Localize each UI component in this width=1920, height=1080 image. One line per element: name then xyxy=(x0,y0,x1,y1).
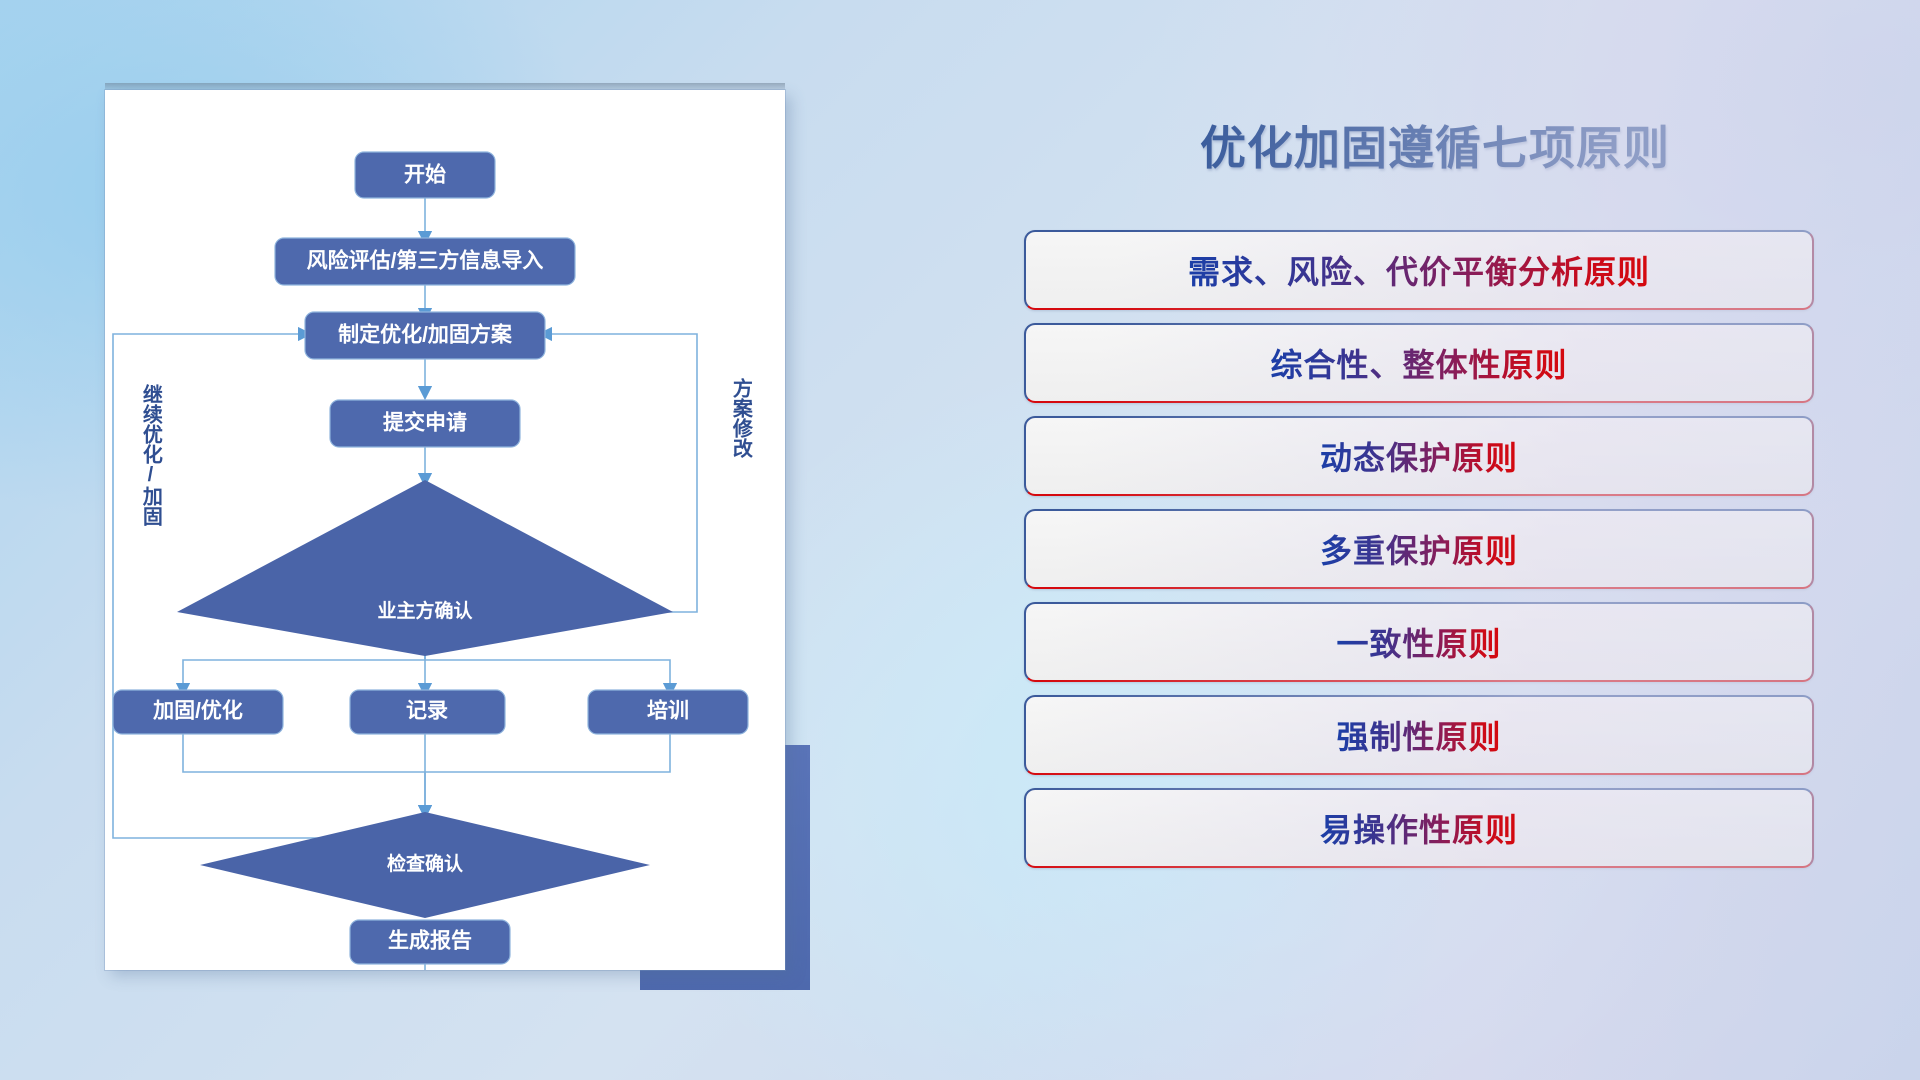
principle-label-7: 易操作性原则 xyxy=(1320,805,1518,851)
principle-label-1: 需求、风险、代价平衡分析原则 xyxy=(1188,247,1650,293)
principle-label-6: 强制性原则 xyxy=(1336,712,1501,758)
principles-list: 需求、风险、代价平衡分析原则 综合性、整体性原则 动态保护原则 多重保护原则 一… xyxy=(1024,230,1814,881)
slide-background: 开始 风险评估/第三方信息导入 制定优化/加固方案 提交申请 业主方确认 加固/… xyxy=(0,0,1920,1080)
principles-title: 优化加固遵循七项原则 xyxy=(1020,112,1850,178)
principle-item-4[interactable]: 多重保护原则 xyxy=(1024,509,1814,589)
principle-label-4: 多重保护原则 xyxy=(1320,526,1518,572)
principle-item-7[interactable]: 易操作性原则 xyxy=(1024,788,1814,868)
principle-item-3[interactable]: 动态保护原则 xyxy=(1024,416,1814,496)
principle-label-5: 一致性原则 xyxy=(1336,619,1501,665)
edge-label-plan-revision: 方案修改 xyxy=(730,378,750,458)
principle-item-1[interactable]: 需求、风险、代价平衡分析原则 xyxy=(1024,230,1814,310)
flowchart-end-layer: 结束 xyxy=(105,90,785,970)
principle-label-3: 动态保护原则 xyxy=(1320,433,1518,479)
principles-panel: 优化加固遵循七项原则 需求、风险、代价平衡分析原则 综合性、整体性原则 动态保护… xyxy=(1020,90,1850,1020)
principle-item-5[interactable]: 一致性原则 xyxy=(1024,602,1814,682)
edge-label-continue-optimize: 继续优化/加固 xyxy=(140,384,160,526)
principle-item-2[interactable]: 综合性、整体性原则 xyxy=(1024,323,1814,403)
principle-label-2: 综合性、整体性原则 xyxy=(1270,340,1567,386)
principle-item-6[interactable]: 强制性原则 xyxy=(1024,695,1814,775)
